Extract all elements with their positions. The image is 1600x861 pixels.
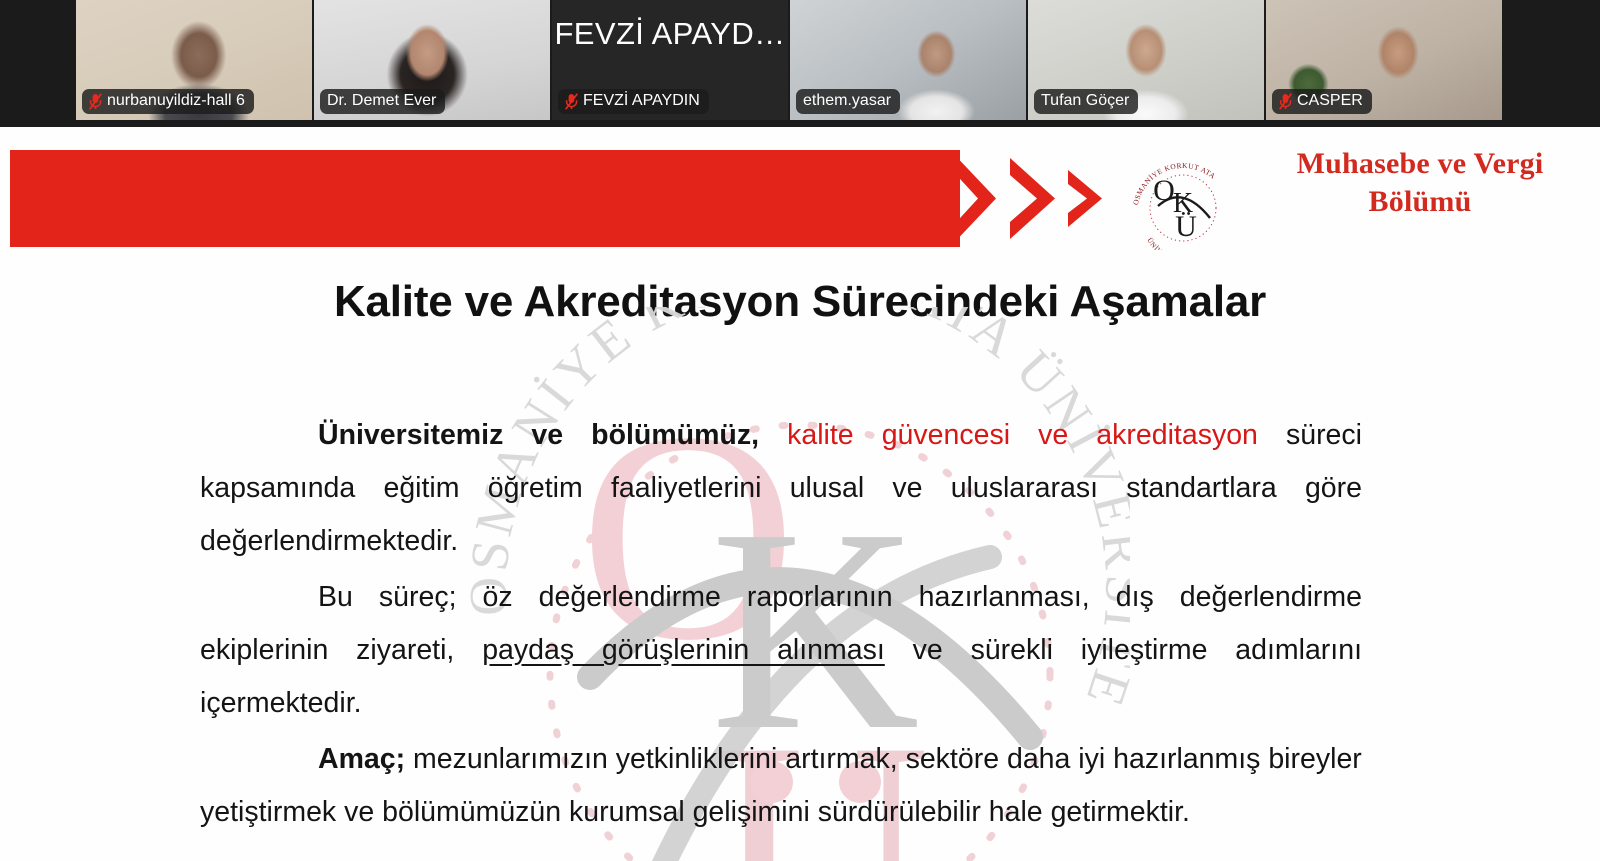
participant-tile-casper[interactable]: CASPER: [1266, 0, 1502, 120]
slide-body: Üniversitemiz ve bölümümüz, kalite güven…: [200, 409, 1362, 842]
participant-name: ethem.yasar: [803, 92, 891, 110]
participant-tile-fevzi-apaydin[interactable]: FEVZİ APAYD… FEVZİ APAYDIN: [552, 0, 788, 120]
university-logo-icon: OSMANİYE KORKUT ATA ÜNİVERSİTESİ O K Ü: [1128, 148, 1238, 250]
participant-tiles: nurbanuyildiz-hall 6 Dr. Demet Ever FEVZ…: [76, 0, 1498, 120]
slide-header-banner: [10, 150, 1100, 247]
participant-label-casper: CASPER: [1272, 89, 1372, 114]
paragraph-2: Bu süreç; öz değerlendirme raporlarının …: [200, 571, 1362, 730]
p1-run-bold: Üniversitemiz ve bölümümüz,: [318, 419, 759, 451]
participant-tile-tufan-gocer[interactable]: Tufan Göçer: [1028, 0, 1264, 120]
banner-bar: [10, 150, 960, 247]
p1-run-red: kalite güvencesi ve akreditasyon: [787, 419, 1258, 451]
p1-run-space: [759, 419, 787, 451]
mic-muted-icon: [89, 93, 102, 110]
participant-tile-nurbanuyildiz-hall-6[interactable]: nurbanuyildiz-hall 6: [76, 0, 312, 120]
participant-name: nurbanuyildiz-hall 6: [107, 92, 245, 110]
mic-muted-icon: [1279, 93, 1292, 110]
p2-run-underline: paydaş görüşlerinin alınması: [482, 634, 885, 666]
slide-title: Kalite ve Akreditasyon Sürecindeki Aşama…: [0, 277, 1600, 327]
presentation-slide: OSMANİYE KORKUT ATA ÜNİVERSİTESİ O K Ü M…: [0, 127, 1600, 861]
participant-tile-ethem-yasar[interactable]: ethem.yasar: [790, 0, 1026, 120]
svg-text:Ü: Ü: [1175, 210, 1197, 243]
participant-tile-dr-demet-ever[interactable]: Dr. Demet Ever: [314, 0, 550, 120]
participant-name: Tufan Göçer: [1041, 92, 1129, 110]
participant-name: FEVZİ APAYDIN: [583, 92, 700, 110]
participant-label-dr-demet-ever: Dr. Demet Ever: [320, 89, 445, 114]
p3-run-bold: Amaç;: [318, 743, 405, 775]
department-heading-line-1: Muhasebe ve Vergi: [1255, 145, 1585, 183]
participant-label-fevzi-apaydin: FEVZİ APAYDIN: [558, 89, 709, 114]
participant-label-tufan-gocer: Tufan Göçer: [1034, 89, 1138, 114]
participant-label-ethem-yasar: ethem.yasar: [796, 89, 900, 114]
video-conference-strip: nurbanuyildiz-hall 6 Dr. Demet Ever FEVZ…: [0, 0, 1600, 127]
paragraph-1: Üniversitemiz ve bölümümüz, kalite güven…: [200, 409, 1362, 568]
participant-display-name-large: FEVZİ APAYD…: [552, 16, 788, 52]
participant-label-nurbanuyildiz-hall-6: nurbanuyildiz-hall 6: [82, 89, 254, 114]
participant-name: Dr. Demet Ever: [327, 92, 436, 110]
participant-name: CASPER: [1297, 92, 1363, 110]
mic-muted-icon: [565, 93, 578, 110]
department-heading: Muhasebe ve Vergi Bölümü: [1255, 145, 1585, 221]
department-heading-line-2: Bölümü: [1255, 183, 1585, 221]
paragraph-3: Amaç; mezunlarımızın yetkinliklerini art…: [200, 733, 1362, 839]
